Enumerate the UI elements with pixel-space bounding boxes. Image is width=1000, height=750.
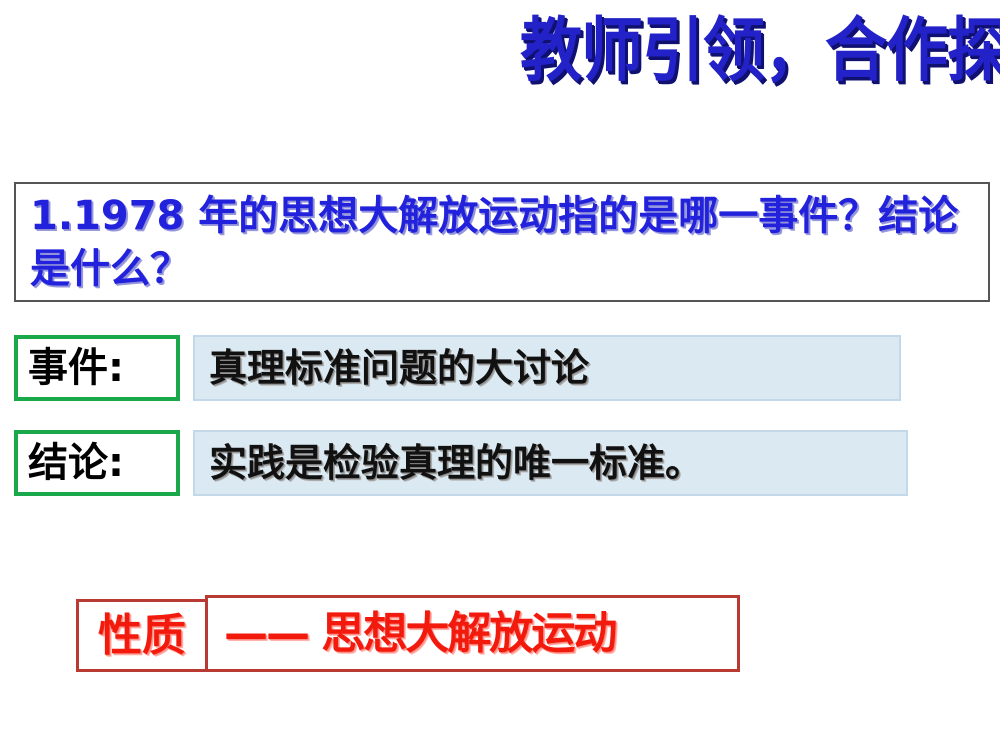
answer-label-event-text: 事件: — [28, 348, 124, 388]
page-title: 教师引领，合作探究 — [520, 16, 1000, 85]
nature-label-text: 性质 — [98, 614, 186, 658]
question-text: 1.1978 年的思想大解放运动指的是哪一事件？结论是什么？ — [30, 190, 976, 296]
answer-value-conclusion: 实践是检验真理的唯一标准。 — [193, 430, 908, 496]
answer-label-conclusion: 结论: — [14, 430, 180, 496]
answer-value-event: 真理标准问题的大讨论 — [193, 335, 901, 401]
answer-value-conclusion-text: 实践是检验真理的唯一标准。 — [209, 444, 703, 482]
nature-box: 性质 —— 思想大解放运动 — [76, 595, 740, 672]
answer-label-event: 事件: — [14, 335, 180, 401]
answer-label-conclusion-text: 结论: — [28, 443, 124, 483]
nature-value-text: —— 思想大解放运动 — [224, 612, 615, 656]
slide-canvas: 教师引领，合作探究 1.1978 年的思想大解放运动指的是哪一事件？结论是什么？… — [0, 0, 1000, 750]
answer-row-event: 事件: 真理标准问题的大讨论 — [14, 335, 901, 401]
question-box: 1.1978 年的思想大解放运动指的是哪一事件？结论是什么？ — [14, 182, 990, 302]
nature-label-cell: 性质 — [76, 599, 208, 672]
answer-value-event-text: 真理标准问题的大讨论 — [209, 349, 589, 387]
answer-row-conclusion: 结论: 实践是检验真理的唯一标准。 — [14, 430, 908, 496]
nature-value-cell: —— 思想大解放运动 — [205, 595, 740, 672]
